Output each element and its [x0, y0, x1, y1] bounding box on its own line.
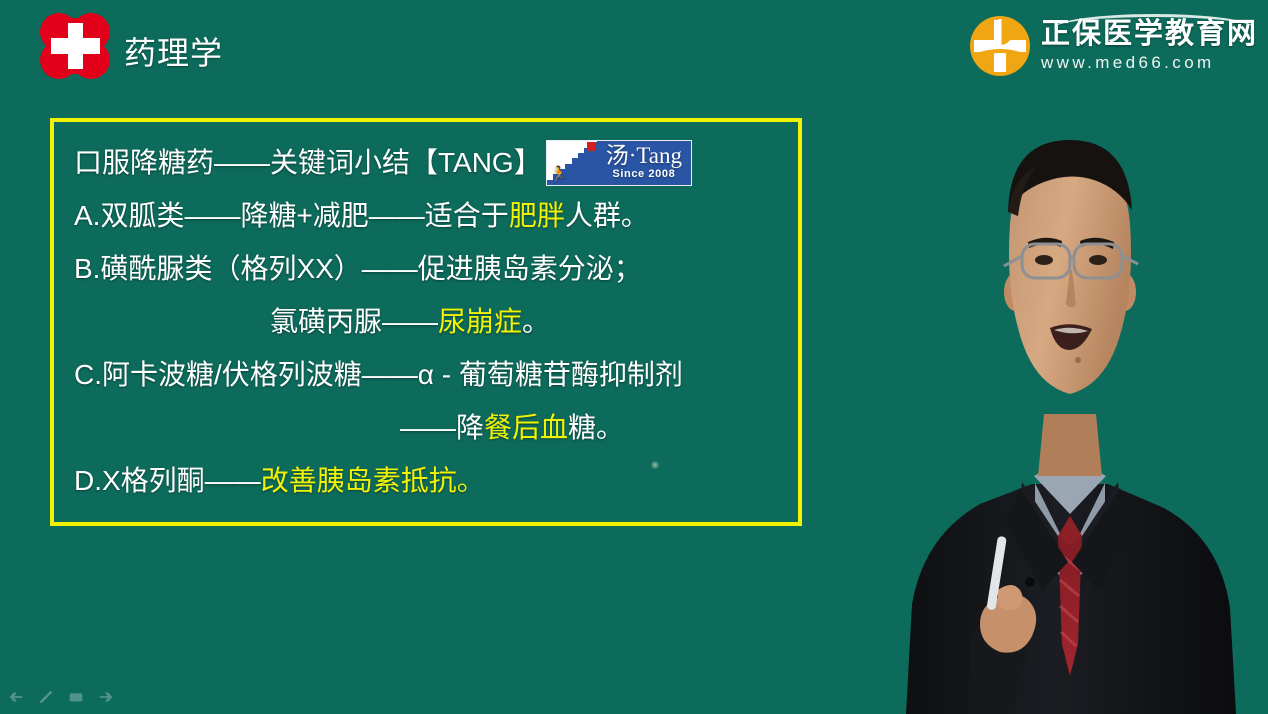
orange-circle-cross-icon [969, 15, 1031, 77]
slide-text: C.阿卡波糖/伏格列波糖——α - 葡萄糖苷酶抑制剂 [74, 359, 683, 390]
slide-text: 人群。 [565, 200, 649, 231]
arrow-left-icon[interactable] [6, 687, 26, 707]
highlighted-text: 餐后血 [484, 412, 568, 443]
slide-text: A.双胍类——降糖+减肥——适合于 [74, 200, 509, 231]
brand-arc-decoration [1054, 14, 1254, 28]
slide-text-lines: 口服降糖药——关键词小结【TANG】🏃汤·TangSince 2008A.双胍类… [74, 136, 790, 507]
slide-line-item-c: C.阿卡波糖/伏格列波糖——α - 葡萄糖苷酶抑制剂 [74, 348, 790, 401]
annotation-toolbar[interactable] [6, 684, 116, 710]
presenter-figure [872, 84, 1268, 714]
slide-line-item-a: A.双胍类——降糖+减肥——适合于肥胖人群。 [74, 189, 790, 242]
slide-text: ——降 [400, 412, 484, 443]
brand-logo: 正保医学教育网 www.med66.com [969, 8, 1258, 84]
slide-line-item-b-sub: 氯磺丙脲——尿崩症。 [74, 295, 790, 348]
highlighted-text: 改善胰岛素抵抗。 [261, 465, 485, 496]
cursor-highlight-dot [652, 462, 658, 468]
pencil-icon[interactable] [36, 687, 56, 707]
page-title: 药理学 [124, 28, 223, 74]
header-bar: 药理学 正保医学教育网 www.med66.com [0, 0, 1268, 92]
slide-text: 口服降糖药——关键词小结【TANG】 [74, 136, 542, 189]
slide-content-box: 口服降糖药——关键词小结【TANG】🏃汤·TangSince 2008A.双胍类… [50, 118, 802, 526]
highlighted-text: 肥胖 [509, 200, 565, 231]
presenter-video-overlay [872, 84, 1268, 714]
highlighted-text: 尿崩症 [438, 306, 522, 337]
slide-line-item-b: B.磺酰脲类（格列XX）——促进胰岛素分泌； [74, 242, 790, 295]
tang-since-label: Since 2008 [612, 168, 675, 181]
slide-text: D.X格列酮—— [74, 465, 261, 496]
slide-line-title: 口服降糖药——关键词小结【TANG】🏃汤·TangSince 2008 [74, 136, 790, 189]
lecture-video-frame: 药理学 正保医学教育网 www.med66.com 口服降糖药——关键词小结 [0, 0, 1268, 714]
tang-brand-name: 汤·Tang [606, 144, 682, 168]
slide-text: B.磺酰脲类（格列XX）——促进胰岛素分泌； [74, 253, 642, 284]
brand-url: www.med66.com [1041, 53, 1258, 73]
tang-words: 汤·TangSince 2008 [597, 141, 691, 185]
slide-text: 氯磺丙脲—— [270, 306, 438, 337]
running-person-icon: 🏃 [550, 167, 564, 183]
slide-text: 糖。 [568, 412, 624, 443]
board-icon[interactable] [66, 687, 86, 707]
arrow-right-icon[interactable] [96, 687, 116, 707]
stairs-icon: 🏃 [547, 141, 597, 185]
slide-text: 。 [522, 306, 550, 337]
slide-line-item-c-sub: ——降餐后血糖。 [74, 401, 790, 454]
red-cross-clover-icon [34, 10, 116, 82]
tang-watermark-badge: 🏃汤·TangSince 2008 [546, 140, 692, 186]
slide-line-item-d: D.X格列酮——改善胰岛素抵抗。 [74, 454, 790, 507]
red-flag-icon [587, 142, 595, 151]
